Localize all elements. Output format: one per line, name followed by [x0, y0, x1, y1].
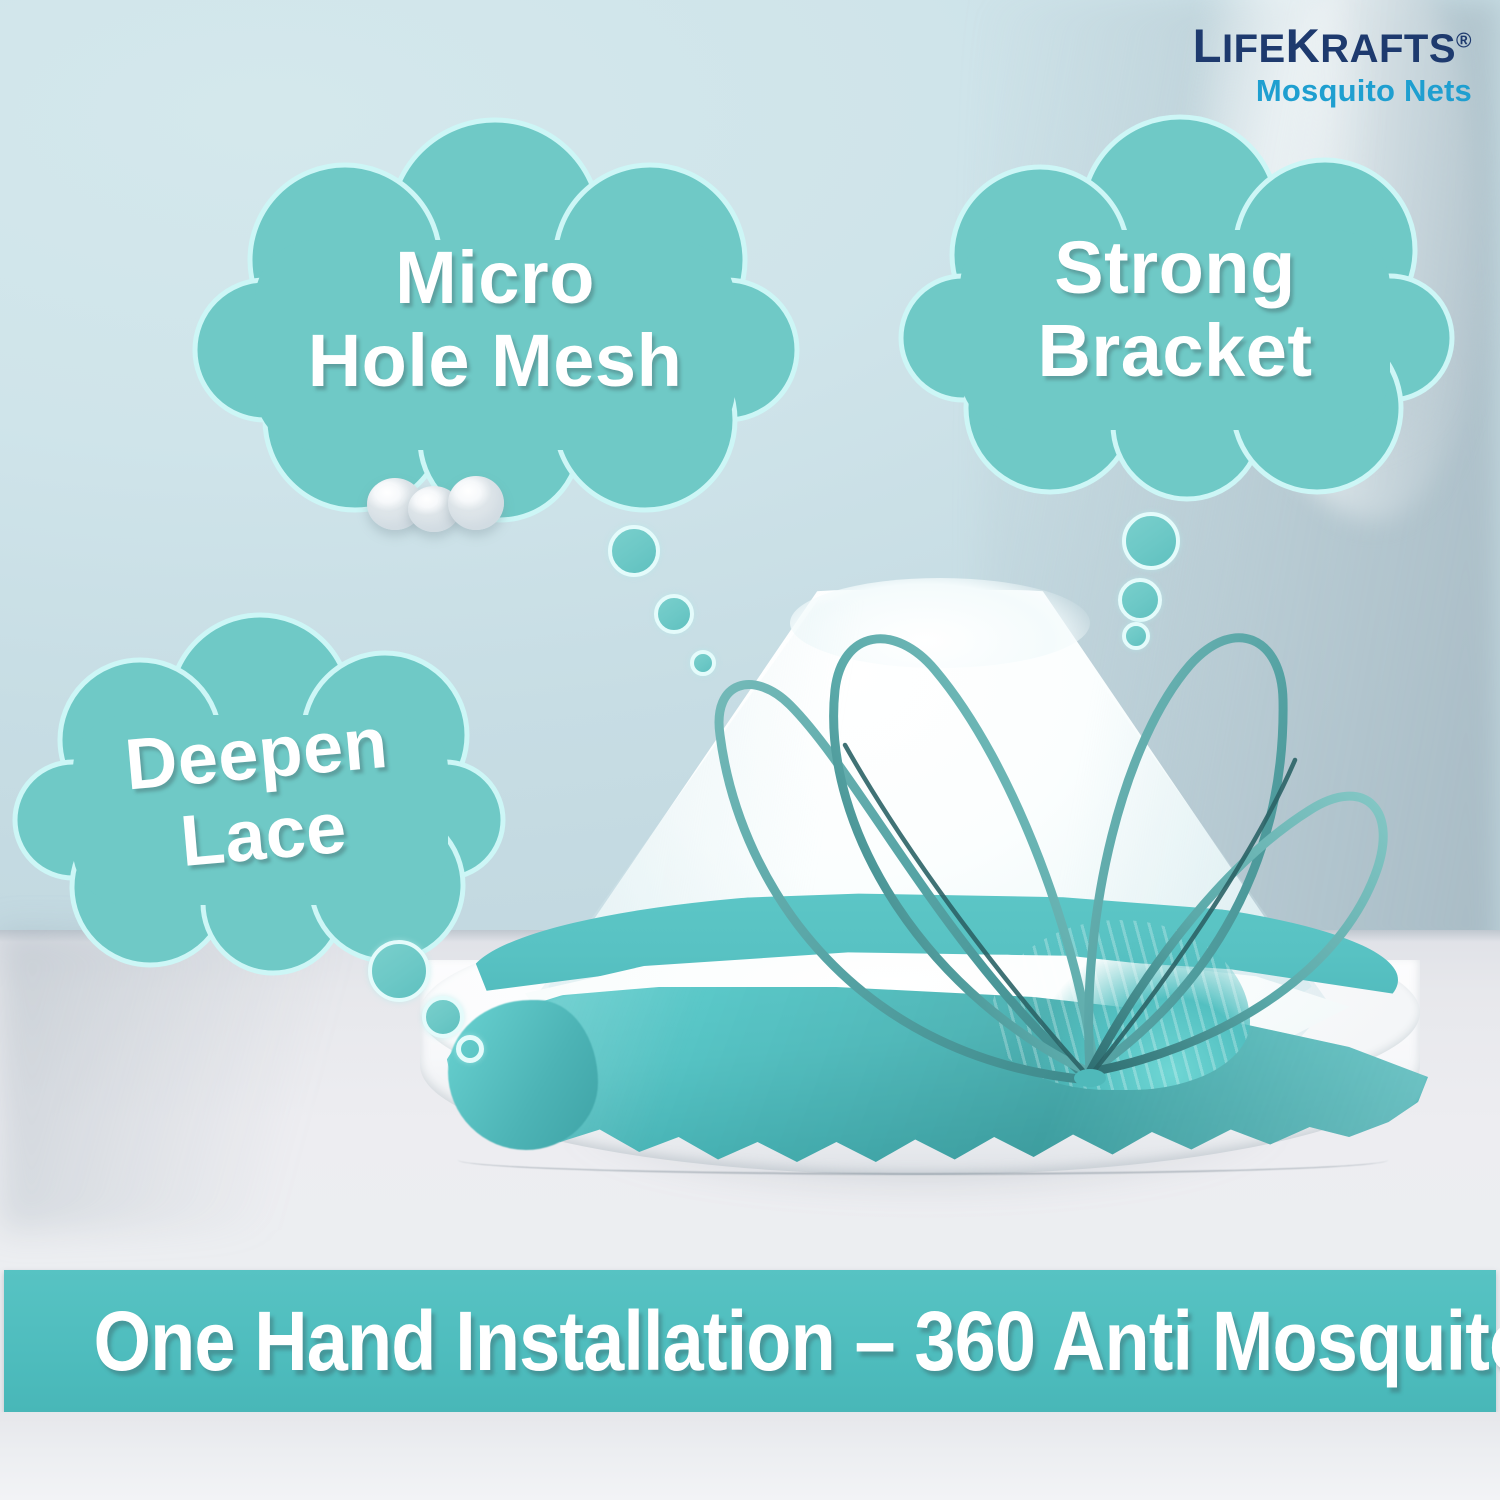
brand-name-L: L — [1193, 19, 1222, 72]
background-table-shadow — [0, 930, 420, 1230]
feature-bubble-micro-hole-mesh[interactable]: Micro Hole Mesh — [195, 120, 795, 520]
bracket-rods — [390, 560, 1470, 1260]
thought-bubble-dot — [608, 525, 660, 577]
thought-bubble-dot — [690, 650, 716, 676]
product-image — [390, 560, 1470, 1260]
thought-bubble-dot — [1122, 622, 1150, 650]
bottom-white-strip — [0, 1412, 1500, 1500]
brand-tagline: Mosquito Nets — [1193, 73, 1472, 109]
brand-logo: LIFEKRAFTS® Mosquito Nets — [1193, 22, 1472, 109]
thought-bubble-dot — [368, 940, 430, 1002]
thought-bubble-dot — [1118, 578, 1162, 622]
thought-bubble-dot — [456, 1035, 484, 1063]
brand-name-ife: IFE — [1222, 27, 1286, 71]
brand-name: LIFEKRAFTS® — [1193, 22, 1472, 69]
promo-banner-headline: One Hand Installation – 360 Anti Mosquit… — [94, 1299, 1407, 1383]
brand-name-rafts: RAFTS — [1320, 27, 1456, 71]
brand-name-K: K — [1286, 19, 1320, 72]
registered-trademark-icon: ® — [1456, 30, 1472, 53]
thought-bubble-dot — [654, 594, 694, 634]
thought-bubble-dot — [1122, 512, 1180, 570]
feature-bubble-strong-bracket[interactable]: Strong Bracket — [905, 120, 1445, 500]
cloud-puff-icon — [448, 476, 504, 530]
product-scene: Micro Hole Mesh Strong Bracket — [0, 0, 1500, 1500]
promo-banner: One Hand Installation – 360 Anti Mosquit… — [4, 1270, 1496, 1412]
thought-bubble-dot — [422, 996, 464, 1038]
feature-bubble-deepen-lace[interactable]: Deepen Lace — [25, 615, 495, 975]
